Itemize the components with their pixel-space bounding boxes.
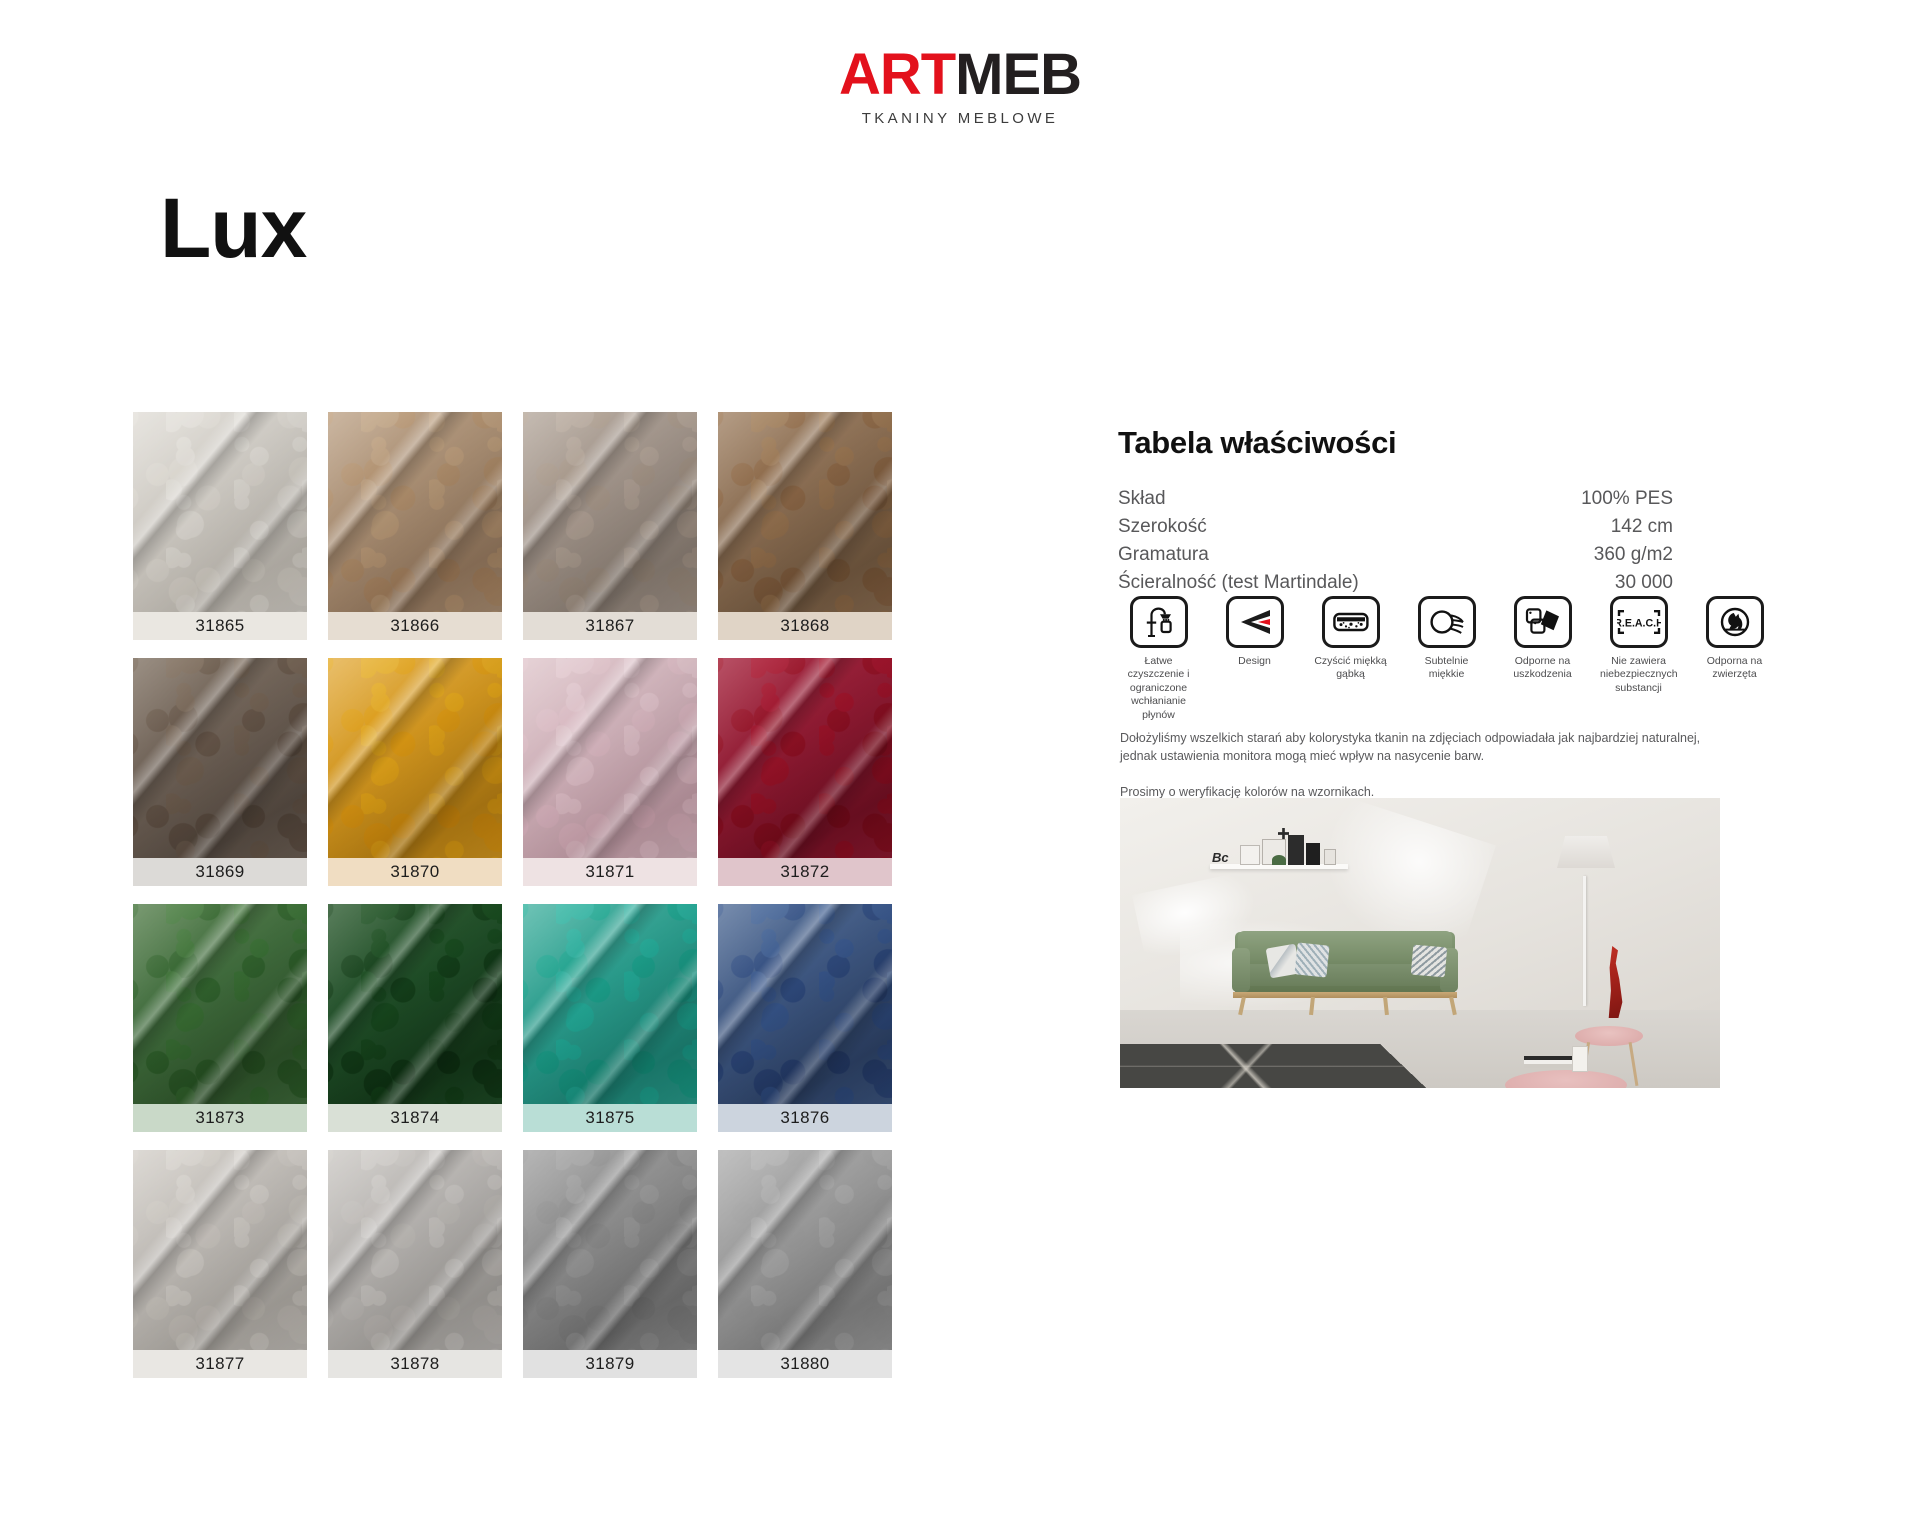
fabric-swatch[interactable]: 31866: [328, 412, 502, 640]
fabric-swatch[interactable]: 31879: [523, 1150, 697, 1378]
property-key: Gramatura: [1118, 541, 1209, 569]
page-title: Lux: [160, 186, 306, 270]
photo-sofa-arm-left: [1232, 948, 1250, 992]
property-key: Skład: [1118, 485, 1166, 513]
fabric-swatch[interactable]: 31876: [718, 904, 892, 1132]
feature-caption: Odporne na uszkodzenia: [1504, 655, 1581, 682]
fabric-swatch-code: 31877: [133, 1350, 307, 1378]
feature-caption: Łatwe czyszczenie i ograniczone wchłania…: [1120, 655, 1197, 722]
feature-item: Odporna na zwierzęta: [1696, 596, 1773, 722]
fabric-swatch-image: [328, 412, 502, 640]
catalog-page: ARTMEB TKANINY MEBLOWE Lux 3186531866318…: [0, 0, 1920, 1538]
feature-item: Czyścić miękką gąbką: [1312, 596, 1389, 722]
fabric-swatch-code: 31879: [523, 1350, 697, 1378]
photo-rug: [1120, 1044, 1434, 1088]
fabric-swatch-image: [133, 658, 307, 886]
damage-resistant-icon: [1514, 596, 1572, 648]
feature-caption: Czyścić miękką gąbką: [1312, 655, 1389, 682]
fabric-swatch-code: 31865: [133, 612, 307, 640]
fabric-swatch-code: 31870: [328, 858, 502, 886]
fabric-swatch[interactable]: 31875: [523, 904, 697, 1132]
feature-caption: Odporna na zwierzęta: [1696, 655, 1773, 682]
fabric-swatch[interactable]: 31870: [328, 658, 502, 886]
property-row: Ścieralność (test Martindale)30 000: [1118, 569, 1673, 597]
fabric-swatch[interactable]: 31872: [718, 658, 892, 886]
property-row: Szerokość142 cm: [1118, 513, 1673, 541]
fabric-swatch-image: [328, 1150, 502, 1378]
property-value: 142 cm: [1611, 513, 1673, 541]
property-row: Gramatura360 g/m2: [1118, 541, 1673, 569]
fabric-swatch-image: [523, 658, 697, 886]
feature-item: Łatwe czyszczenie i ograniczone wchłania…: [1120, 596, 1197, 722]
fabric-swatch[interactable]: 31867: [523, 412, 697, 640]
fabric-swatch-code: 31876: [718, 1104, 892, 1132]
photo-cushion: [1411, 945, 1447, 978]
photo-plant: [1272, 855, 1286, 865]
svg-text:R.E.A.C.H: R.E.A.C.H: [1617, 617, 1661, 629]
brand-name-meb: MEB: [955, 46, 1081, 104]
reach-icon: R.E.A.C.H: [1610, 596, 1668, 648]
photo-shelf-letters: Bc: [1212, 851, 1238, 865]
fabric-swatch[interactable]: 31880: [718, 1150, 892, 1378]
photo-side-table: [1575, 1026, 1643, 1046]
fabric-swatch[interactable]: 31865: [133, 412, 307, 640]
vacuum-cleaner-icon: [1130, 596, 1188, 648]
fabric-swatch-code: 31874: [328, 1104, 502, 1132]
fabric-swatch-code: 31868: [718, 612, 892, 640]
brand-tagline: TKANINY MEBLOWE: [0, 110, 1920, 127]
brand-name-art: ART: [839, 46, 955, 104]
photo-cushion: [1294, 942, 1329, 977]
photo-number-decor: [1306, 843, 1320, 865]
interior-photo: Bc: [1120, 798, 1720, 1088]
feature-icons: Łatwe czyszczenie i ograniczone wchłania…: [1120, 596, 1773, 722]
fabric-swatch-image: [718, 904, 892, 1132]
fabric-swatch[interactable]: 31871: [523, 658, 697, 886]
fabric-swatch-code: 31871: [523, 858, 697, 886]
fabric-swatch[interactable]: 31877: [133, 1150, 307, 1378]
fabric-swatch-code: 31869: [133, 858, 307, 886]
fabric-swatch-image: [523, 1150, 697, 1378]
fabric-swatch[interactable]: 31873: [133, 904, 307, 1132]
feature-caption: Subtelnie miękkie: [1408, 655, 1485, 682]
disclaimer-paragraph-1: Dołożyliśmy wszelkich starań aby kolorys…: [1120, 730, 1720, 766]
fabric-swatch-image: [718, 658, 892, 886]
fabric-swatch-code: 31866: [328, 612, 502, 640]
fabric-swatch-code: 31880: [718, 1350, 892, 1378]
color-disclaimer: Dołożyliśmy wszelkich starań aby kolorys…: [1120, 730, 1720, 801]
fabric-swatch-code: 31878: [328, 1350, 502, 1378]
property-key: Ścieralność (test Martindale): [1118, 569, 1359, 597]
property-value: 30 000: [1615, 569, 1673, 597]
feature-item: Subtelnie miękkie: [1408, 596, 1485, 722]
fabric-swatch-code: 31867: [523, 612, 697, 640]
photo-book-standing: [1572, 1046, 1588, 1072]
fabric-swatch-code: 31872: [718, 858, 892, 886]
photo-sofa-base: [1233, 992, 1457, 998]
properties-table: Skład100% PESSzerokość142 cmGramatura360…: [1118, 485, 1673, 597]
property-value: 360 g/m2: [1594, 541, 1673, 569]
fabric-swatch-image: [328, 904, 502, 1132]
fabric-swatch-image: [133, 412, 307, 640]
fabric-swatch[interactable]: 31878: [328, 1150, 502, 1378]
sponge-icon: [1322, 596, 1380, 648]
fabric-swatch-image: [328, 658, 502, 886]
feature-item: Design: [1216, 596, 1293, 722]
feature-item: R.E.A.C.HNie zawiera niebezpiecznych sub…: [1600, 596, 1677, 722]
properties-title: Tabela właściwości: [1118, 425, 1738, 461]
pet-friendly-icon: [1706, 596, 1764, 648]
fabric-swatch-code: 31873: [133, 1104, 307, 1132]
photo-shelf-decor: Bc: [1212, 831, 1346, 865]
property-key: Szerokość: [1118, 513, 1207, 541]
feature-item: Odporne na uszkodzenia: [1504, 596, 1581, 722]
swatch-grid: 3186531866318673186831869318703187131872…: [133, 412, 892, 1378]
fabric-swatch[interactable]: 31874: [328, 904, 502, 1132]
photo-floor-lamp-shade: [1557, 836, 1615, 868]
design-arrow-icon: [1226, 596, 1284, 648]
property-value: 100% PES: [1581, 485, 1673, 513]
fabric-swatch-image: [523, 904, 697, 1132]
photo-frame: [1240, 845, 1260, 865]
photo-floor-lamp-pole: [1583, 876, 1586, 1006]
property-row: Skład100% PES: [1118, 485, 1673, 513]
properties-panel: Tabela właściwości Skład100% PESSzerokoś…: [1118, 425, 1738, 597]
fabric-swatch-image: [718, 412, 892, 640]
fabric-swatch[interactable]: 31869: [133, 658, 307, 886]
fabric-swatch-image: [133, 1150, 307, 1378]
photo-vase: [1324, 849, 1336, 865]
feature-caption: Design: [1216, 655, 1293, 668]
soft-touch-icon: [1418, 596, 1476, 648]
fabric-swatch[interactable]: 31868: [718, 412, 892, 640]
brand-logo: ARTMEB TKANINY MEBLOWE: [0, 46, 1920, 127]
fabric-swatch-image: [523, 412, 697, 640]
photo-frame-dark: [1288, 835, 1304, 865]
fabric-swatch-image: [718, 1150, 892, 1378]
fabric-swatch-code: 31875: [523, 1104, 697, 1132]
photo-rug-pattern: [1120, 1044, 1434, 1088]
feature-caption: Nie zawiera niebezpiecznych substancji: [1600, 655, 1677, 695]
fabric-swatch-image: [133, 904, 307, 1132]
